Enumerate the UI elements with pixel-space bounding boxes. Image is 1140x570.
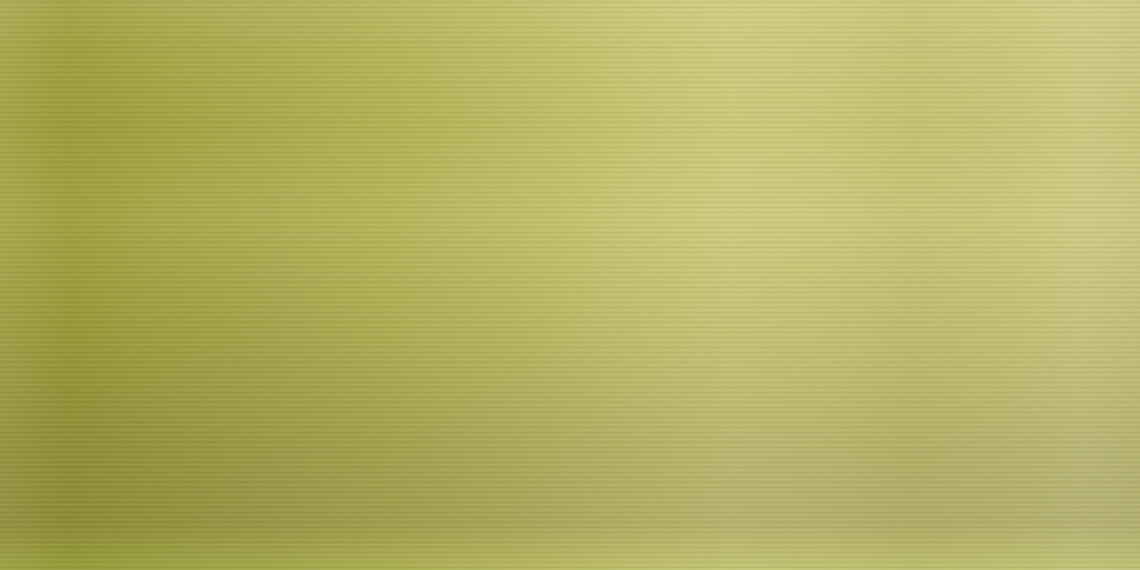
brushed-metal-streaks bbox=[0, 0, 1140, 570]
memorial-plaque: In Loving Memory of Miranda Smith Feb. 1… bbox=[0, 0, 1140, 570]
